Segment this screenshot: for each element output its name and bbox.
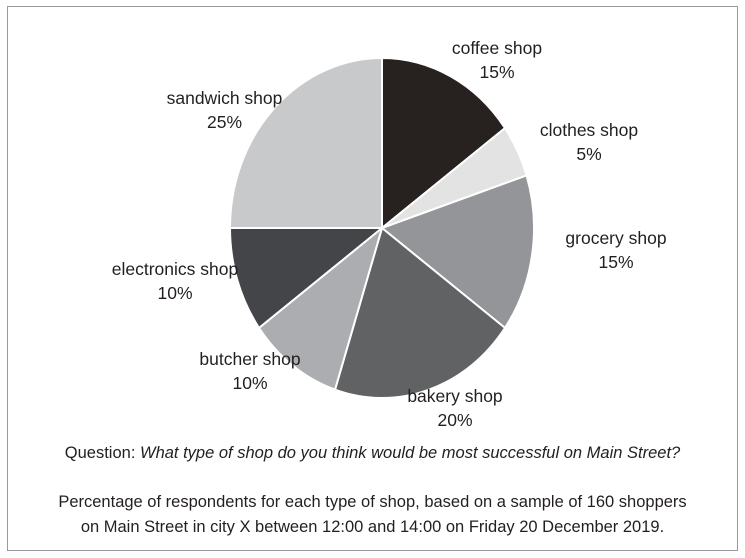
survey-question-text: What type of shop do you think would be … — [140, 444, 680, 462]
pie-label-butcher-shop-name: butcher shop — [199, 349, 300, 369]
pie-label-bakery-shop: bakery shop 20% — [360, 384, 550, 432]
pie-label-sandwich-shop-value: 25% — [122, 110, 327, 134]
pie-chart-plot-area: coffee shop 15% clothes shop 5% grocery … — [0, 0, 745, 430]
pie-label-coffee-shop-value: 15% — [402, 60, 592, 84]
pie-label-clothes-shop-name: clothes shop — [540, 120, 638, 140]
pie-label-butcher-shop-value: 10% — [150, 371, 350, 395]
pie-label-butcher-shop: butcher shop 10% — [150, 347, 350, 395]
pie-label-grocery-shop-name: grocery shop — [565, 228, 666, 248]
figure-note-line-1: Percentage of respondents for each type … — [24, 490, 721, 515]
pie-label-clothes-shop-value: 5% — [494, 142, 684, 166]
pie-label-grocery-shop: grocery shop 15% — [516, 226, 716, 274]
pie-label-sandwich-shop: sandwich shop 25% — [122, 86, 327, 134]
pie-label-electronics-shop: electronics shop 10% — [70, 257, 280, 305]
figure-captions: Question: What type of shop do you think… — [8, 442, 737, 540]
pie-label-coffee-shop: coffee shop 15% — [402, 36, 592, 84]
pie-label-bakery-shop-value: 20% — [360, 408, 550, 432]
pie-label-coffee-shop-name: coffee shop — [452, 38, 542, 58]
pie-label-grocery-shop-value: 15% — [516, 250, 716, 274]
pie-label-bakery-shop-name: bakery shop — [407, 386, 502, 406]
pie-label-clothes-shop: clothes shop 5% — [494, 118, 684, 166]
survey-question-line: Question: What type of shop do you think… — [8, 442, 737, 464]
figure-note-line-2: on Main Street in city X between 12:00 a… — [24, 515, 721, 540]
pie-label-electronics-shop-value: 10% — [70, 281, 280, 305]
figure-note: Percentage of respondents for each type … — [8, 490, 737, 540]
pie-chart-svg — [0, 0, 745, 430]
pie-label-electronics-shop-name: electronics shop — [112, 259, 238, 279]
pie-chart-figure: coffee shop 15% clothes shop 5% grocery … — [0, 0, 745, 558]
survey-question-prefix: Question: — [65, 444, 140, 462]
pie-slice-sandwich-shop — [230, 58, 382, 228]
pie-label-sandwich-shop-name: sandwich shop — [167, 88, 283, 108]
